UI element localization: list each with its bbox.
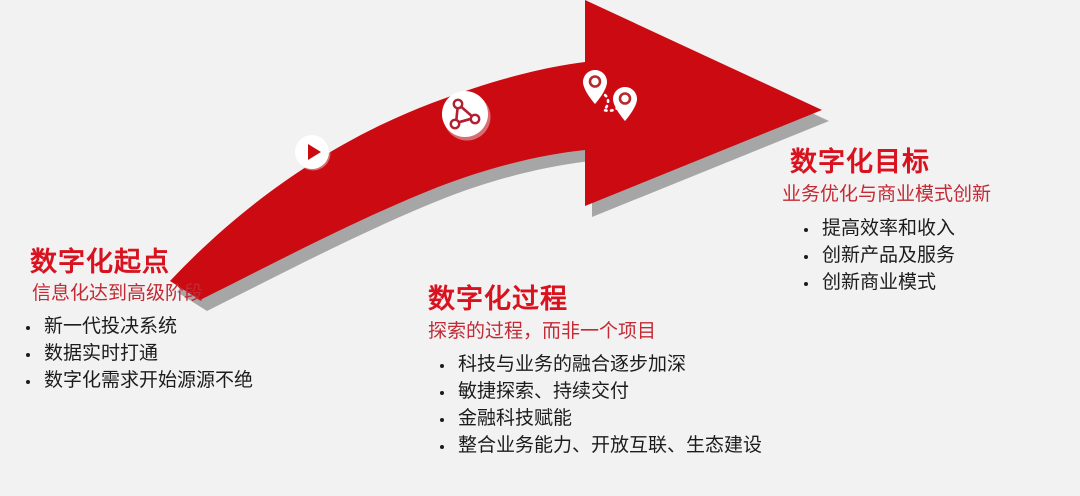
stage-bullet-list-process: 科技与业务的融合逐步加深 敏捷探索、持续交付 金融科技赋能 整合业务能力、开放互… xyxy=(436,352,762,460)
stage-bullet-list-start: 新一代投决系统 数据实时打通 数字化需求开始源源不绝 xyxy=(22,314,253,395)
stage-title-goal: 数字化目标 xyxy=(790,148,991,176)
list-item: 创新商业模式 xyxy=(800,270,991,297)
list-item: 整合业务能力、开放互联、生态建设 xyxy=(436,433,762,460)
list-item: 新一代投决系统 xyxy=(22,314,253,341)
arrow-body xyxy=(170,0,822,300)
slide-canvas: 数字化起点 信息化达到高级阶段 新一代投决系统 数据实时打通 数字化需求开始源源… xyxy=(0,0,1080,496)
list-item: 提高效率和收入 xyxy=(800,216,991,243)
stage-title-process: 数字化过程 xyxy=(428,285,762,313)
share-nodes-icon xyxy=(442,91,491,141)
stage-block-start: 数字化起点 信息化达到高级阶段 新一代投决系统 数据实时打通 数字化需求开始源源… xyxy=(22,248,253,395)
play-icon xyxy=(295,135,331,171)
stage-subtitle-goal: 业务优化与商业模式创新 xyxy=(782,185,991,206)
list-item: 金融科技赋能 xyxy=(436,406,762,433)
list-item: 创新产品及服务 xyxy=(800,243,991,270)
list-item: 敏捷探索、持续交付 xyxy=(436,379,762,406)
list-item: 数字化需求开始源源不绝 xyxy=(22,368,253,395)
stage-bullet-list-goal: 提高效率和收入 创新产品及服务 创新商业模式 xyxy=(800,216,991,297)
list-item: 科技与业务的融合逐步加深 xyxy=(436,352,762,379)
stage-title-start: 数字化起点 xyxy=(30,248,253,276)
map-pins-route-icon xyxy=(583,70,637,121)
stage-block-process: 数字化过程 探索的过程，而非一个项目 科技与业务的融合逐步加深 敏捷探索、持续交… xyxy=(422,285,762,460)
arrow-shadow xyxy=(177,11,829,311)
list-item: 数据实时打通 xyxy=(22,341,253,368)
stage-subtitle-process: 探索的过程，而非一个项目 xyxy=(428,322,762,343)
stage-subtitle-start: 信息化达到高级阶段 xyxy=(32,284,253,305)
stage-block-goal: 数字化目标 业务优化与商业模式创新 提高效率和收入 创新产品及服务 创新商业模式 xyxy=(782,148,991,297)
